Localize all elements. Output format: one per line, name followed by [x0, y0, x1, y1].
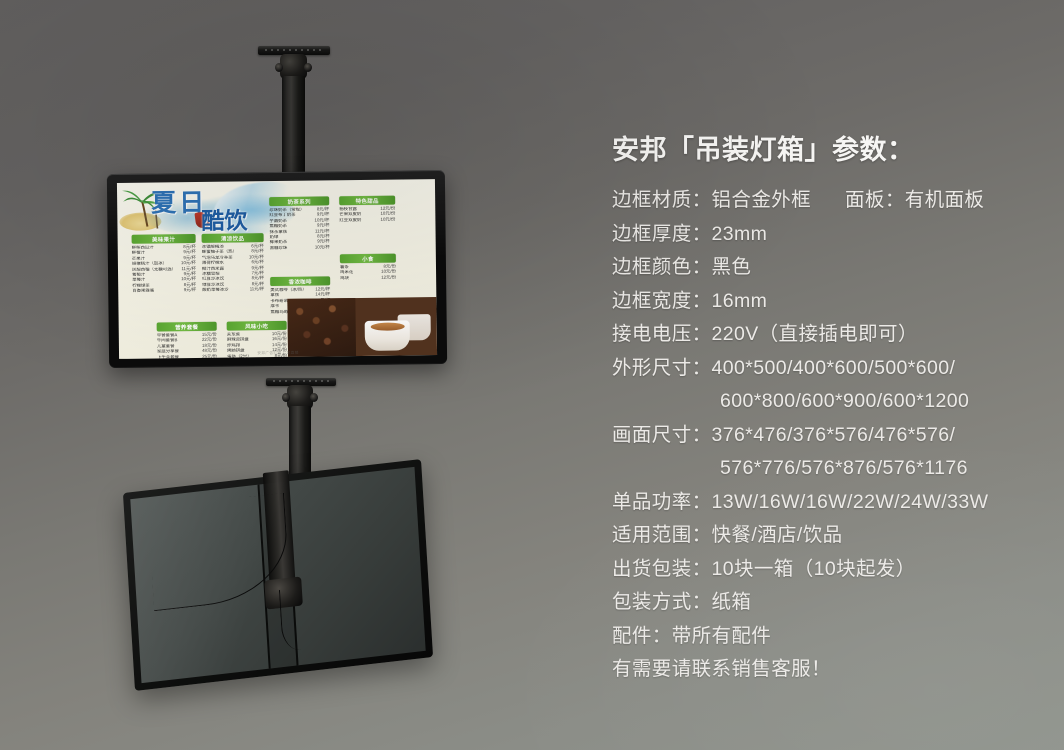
- spec-line: 包装方式：纸箱: [612, 593, 1052, 613]
- spec-key: 边框宽度：: [612, 292, 712, 312]
- menu-item-name: 拿铁: [270, 293, 279, 298]
- menu-item-name: 芋圆奶茶: [269, 219, 287, 224]
- spec-key: 包装方式：: [612, 593, 712, 613]
- spec-value: 纸箱: [712, 593, 752, 613]
- menu-item-name: 午间套餐B: [157, 339, 178, 344]
- spec-key: 适用范围：: [612, 526, 712, 546]
- spec-value: 10块一箱（10块起发）: [712, 560, 916, 580]
- menu-item-price: 10元/杯: [311, 245, 330, 250]
- menu-item-price: 12元/份: [377, 275, 396, 280]
- menu-item-name: 猕猴桃汁（加冰）: [132, 262, 167, 267]
- menu-item-row: 酸奶草莓冰沙11元/杯: [202, 287, 264, 292]
- spec-value: 400*500/400*600/500*600/: [712, 359, 956, 379]
- menu-item-name: 红豆沙冰饮: [202, 277, 224, 282]
- menu-item-list: 珍珠奶茶（常规）8元/杯红豆布丁奶茶9元/杯芋圆奶茶10元/杯焦糖奶茶9元/杯抹…: [269, 207, 330, 250]
- menu-section-heading: 小食: [340, 254, 396, 264]
- spec-title: 安邦「吊装灯箱」参数：: [612, 128, 1052, 167]
- menu-item-name: 鲜榨西瓜汁: [132, 246, 154, 251]
- spec-key: 边框颜色：: [612, 258, 712, 278]
- menu-item-name: 杨枝甘露: [339, 207, 357, 212]
- menu-item-name: 薄荷柠檬水: [202, 261, 224, 266]
- spec-value: 带所有配件: [672, 627, 772, 647]
- menu-section: 小食薯条8元/份鸡米花10元/份鸡块12元/份: [340, 254, 396, 281]
- menu-item-name: 关东煮: [227, 332, 240, 337]
- menu-item-name: 椰果奶茶: [270, 240, 288, 245]
- spec-line: 出货包装：10块一箱（10块起发）: [612, 560, 1052, 580]
- rear-panel-section-right: [288, 467, 426, 665]
- menu-item-price: 11元/杯: [246, 287, 265, 292]
- spec-line: 配件：带所有配件: [612, 627, 1052, 647]
- menu-item-name: 奶绿: [270, 235, 279, 240]
- product-photo-area: 夏 日 酷饮 美味果汁鲜榨西瓜汁8元/杯鲜橙汁9元/杯芒果汁9元/杯猕猴桃汁（加…: [0, 0, 580, 750]
- menu-section-heading-label: 美味果汁: [152, 235, 175, 243]
- spec-line: 单品功率：13W/16W/16W/22W/24W/33W: [612, 493, 1052, 513]
- menu-item-name: 蜂蜜柚子茶（热）: [202, 250, 237, 255]
- ceiling-mount-bracket-upper: [248, 46, 340, 186]
- spec-value: 快餐/酒店/饮品: [712, 526, 843, 546]
- spec-value: 铝合金外框: [712, 191, 812, 211]
- spec-key: 边框厚度：: [612, 225, 712, 245]
- menu-section-heading-label: 营养套餐: [175, 322, 198, 330]
- menu-item-list: 杨枝甘露12元/份芒果双皮奶10元/份红豆双皮奶10元/份: [339, 207, 395, 223]
- spec-key: 出货包装：: [612, 560, 712, 580]
- mount-pole: [282, 76, 305, 181]
- menu-item-row: 百香果蜂蜜9元/杯: [132, 288, 196, 293]
- menu-section-heading: 清凉饮品: [202, 233, 264, 243]
- menu-item-row: 红豆双皮奶10元/份: [339, 217, 395, 222]
- menu-item-name: 芒果汁: [132, 256, 145, 261]
- menu-section: 清凉饮品冰镇酸梅汤6元/杯蜂蜜柚子茶（热）8元/杯气泡乌龙冷萃茶10元/杯薄荷柠…: [202, 233, 265, 292]
- menu-item-row: 鸡块12元/份: [340, 275, 396, 280]
- menu-section: 美味果汁鲜榨西瓜汁8元/杯鲜橙汁9元/杯芒果汁9元/杯猕猴桃汁（加冰）10元/杯…: [132, 234, 197, 293]
- spec-line: 外形尺寸：400*500/400*600/500*600/: [612, 359, 1052, 379]
- rear-pivot-joint-icon: [264, 576, 303, 610]
- spec-line: 边框宽度：16mm: [612, 292, 1052, 312]
- menu-item-price: 10元/份: [376, 217, 395, 222]
- spec-value: 23mm: [712, 225, 768, 245]
- menu-section-heading: 风味小吃: [227, 321, 287, 331]
- menu-item-name: 抹茶拿铁: [270, 229, 288, 234]
- spec-line: 接电电压：220V（直接插电即可）: [612, 325, 1052, 345]
- menu-section-heading-label: 风味小吃: [245, 322, 268, 330]
- spec-value: 黑色: [712, 258, 752, 278]
- menu-item-name: 椰汁西米露: [202, 266, 224, 271]
- spec-value: 376*476/376*576/476*576/: [712, 426, 956, 446]
- menu-item-name: 焦糖奶茶: [269, 224, 287, 229]
- poster-title-line-2: 酷饮: [201, 209, 247, 233]
- menu-item-name: 柠檬绿茶: [132, 283, 150, 288]
- menu-section-heading-label: 清凉饮品: [221, 234, 244, 242]
- menu-item-name: 麻辣烫拼盘: [227, 338, 249, 343]
- menu-section-heading: 美味果汁: [132, 234, 196, 244]
- product-showcase-image: 夏 日 酷饮 美味果汁鲜榨西瓜汁8元/杯鲜橙汁9元/杯芒果汁9元/杯猕猴桃汁（加…: [0, 0, 1064, 750]
- menu-item-name: 冰糖雪梨: [202, 272, 220, 277]
- menu-item-name: 摩卡: [270, 304, 279, 309]
- menu-item-price: 9元/杯: [180, 288, 197, 293]
- spec-key-secondary: 面板：: [811, 191, 905, 211]
- menu-item-name: 凤梨西柚（无糖可选）: [132, 267, 176, 272]
- menu-item-name: 绿豆沙冰饮: [202, 282, 224, 287]
- menu-item-name: 鲜橙汁: [132, 251, 145, 256]
- spec-key: 外形尺寸：: [612, 359, 712, 379]
- spec-line: 边框厚度：23mm: [612, 225, 1052, 245]
- spec-key: 单品功率：: [612, 493, 712, 513]
- menu-item-name: 薯条: [340, 265, 349, 270]
- menu-item-name: 红豆双皮奶: [339, 218, 361, 223]
- spec-value-continuation: 600*800/600*900/600*1200: [612, 392, 1052, 412]
- menu-poster: 夏 日 酷饮 美味果汁鲜榨西瓜汁8元/杯鲜橙汁9元/杯芒果汁9元/杯猕猴桃汁（加…: [117, 179, 437, 359]
- menu-section-heading-label: 奶茶系列: [288, 197, 311, 205]
- menu-item-name: 红豆布丁奶茶: [269, 213, 295, 218]
- menu-item-name: 炸鸡排: [227, 343, 240, 348]
- spec-value: 16mm: [712, 292, 768, 312]
- spec-line: 画面尺寸：376*476/376*576/476*576/: [612, 426, 1052, 446]
- menu-section-heading-label: 小食: [362, 254, 374, 262]
- menu-section-heading: 香浓咖啡: [270, 276, 330, 286]
- menu-item-name: 葡萄汁: [132, 273, 145, 278]
- menu-section-heading: 特色甜品: [339, 196, 395, 206]
- spec-key: 接电电压：: [612, 325, 712, 345]
- menu-item-name: 黑糖珍珠: [270, 246, 288, 251]
- menu-section-heading-label: 香浓咖啡: [289, 277, 312, 285]
- menu-item-name: 芒果双皮奶: [339, 212, 361, 217]
- spec-value: 220V（直接插电即可）: [712, 325, 918, 345]
- spec-key: 配件：: [612, 627, 672, 647]
- poster-title-char-1: 夏: [151, 191, 176, 216]
- menu-item-list: 薯条8元/份鸡米花10元/份鸡块12元/份: [340, 265, 396, 281]
- menu-item-name: 鸡米花: [340, 270, 353, 275]
- menu-item-name: 酸奶草莓冰沙: [202, 288, 228, 293]
- specification-panel: 安邦「吊装灯箱」参数： 边框材质：铝合金外框面板：有机面板边框厚度：23mm边框…: [612, 128, 1052, 680]
- menu-item-name: 气泡乌龙冷萃茶: [202, 255, 233, 260]
- rear-back-panel: [130, 467, 425, 683]
- menu-section: 奶茶系列珍珠奶茶（常规）8元/杯红豆布丁奶茶9元/杯芋圆奶茶10元/杯焦糖奶茶9…: [269, 196, 330, 250]
- spec-line: 边框颜色：黑色: [612, 258, 1052, 278]
- spec-key: 边框材质：: [612, 191, 712, 211]
- spec-value: 13W/16W/16W/22W/24W/33W: [712, 493, 989, 513]
- spec-value-secondary: 有机面板: [905, 191, 985, 211]
- spec-line: 边框材质：铝合金外框面板：有机面板: [612, 191, 1052, 211]
- spec-line-list: 边框材质：铝合金外框面板：有机面板边框厚度：23mm边框颜色：黑色边框宽度：16…: [612, 191, 1052, 646]
- spec-line: 适用范围：快餐/酒店/饮品: [612, 526, 1052, 546]
- menu-section-heading: 奶茶系列: [269, 196, 329, 206]
- menu-item-row: 黑糖珍珠10元/杯: [270, 245, 330, 250]
- light-box-rear-view: [123, 459, 433, 691]
- menu-item-name: 草莓汁: [132, 278, 145, 283]
- menu-section-heading-label: 特色甜品: [356, 196, 379, 204]
- spec-key: 画面尺寸：: [612, 426, 712, 446]
- menu-item-name: 美式咖啡（冰/热）: [270, 288, 306, 293]
- contact-note: 有需要请联系销售客服！: [612, 660, 1052, 680]
- menu-item-name: 冰镇酸梅汤: [202, 245, 224, 250]
- illuminated-menu-light-box: 夏 日 酷饮 美味果汁鲜榨西瓜汁8元/杯鲜橙汁9元/杯芒果汁9元/杯猕猴桃汁（加…: [107, 170, 447, 368]
- menu-item-name: 早餐套餐A: [157, 333, 178, 338]
- menu-item-name: 百香果蜂蜜: [132, 289, 154, 294]
- menu-item-name: 儿童套餐: [157, 344, 175, 349]
- menu-section-heading: 营养套餐: [157, 322, 217, 332]
- menu-section: 特色甜品杨枝甘露12元/份芒果双皮奶10元/份红豆双皮奶10元/份: [339, 196, 395, 223]
- menu-item-list: 冰镇酸梅汤6元/杯蜂蜜柚子茶（热）8元/杯气泡乌龙冷萃茶10元/杯薄荷柠檬水6元…: [202, 244, 265, 292]
- menu-item-name: 鸡块: [340, 276, 349, 281]
- menu-item-name: 珍珠奶茶（常规）: [269, 208, 304, 213]
- spec-value-continuation: 576*776/576*876/576*1176: [612, 459, 1052, 479]
- menu-item-list: 鲜榨西瓜汁8元/杯鲜橙汁9元/杯芒果汁9元/杯猕猴桃汁（加冰）10元/杯凤梨西柚…: [132, 245, 197, 293]
- rear-panel-section-left: [130, 485, 270, 684]
- coffee-cup-primary-icon: [365, 321, 410, 352]
- menu-item-name: 卡布奇诺: [270, 299, 288, 304]
- coffee-photo: [287, 297, 437, 357]
